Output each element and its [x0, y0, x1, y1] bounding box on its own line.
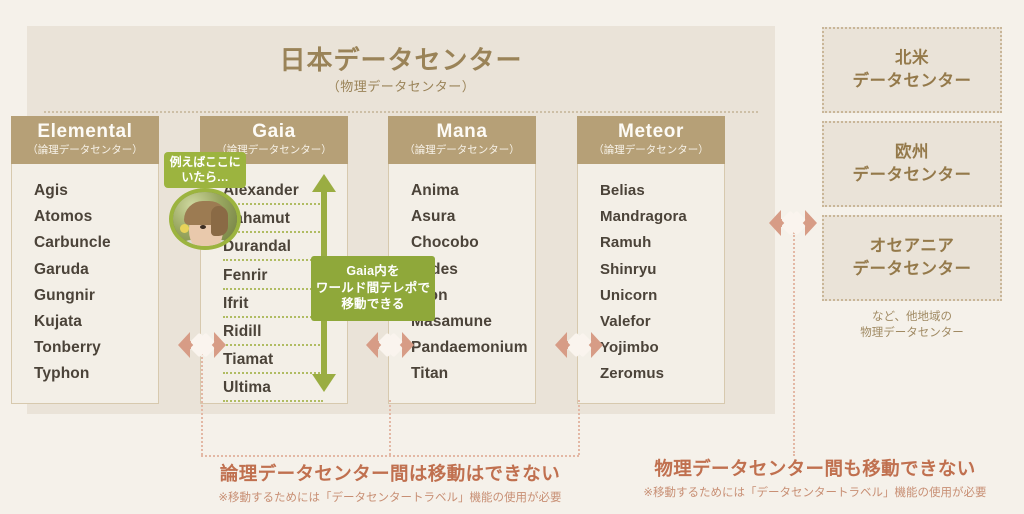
teleport-callout-line3: 移動できる — [315, 296, 431, 313]
world-list-elemental: Agis Atomos Carbuncle Garuda Gungnir Kuj… — [12, 178, 158, 388]
overseas-footnote-line2: 物理データセンター — [822, 325, 1002, 341]
title-divider — [44, 111, 758, 113]
list-item[interactable]: Garuda — [34, 257, 158, 283]
teleport-callout-line1: Gaia内を — [315, 263, 431, 280]
avatar — [169, 188, 241, 250]
list-item[interactable]: Titan — [411, 361, 535, 387]
page-title: 日本データセンター — [27, 40, 775, 77]
list-item[interactable]: Typhon — [34, 361, 158, 387]
caption-physical-datacenter: 物理データセンター間も移動できない ※移動するためには「データセンタートラベル」… — [620, 455, 1010, 500]
blocked-travel-icon-physical — [769, 210, 817, 236]
list-item[interactable]: Yojimbo — [600, 335, 724, 361]
flower-icon — [180, 224, 189, 233]
datacenter-body-meteor: Belias Mandragora Ramuh Shinryu Unicorn … — [577, 164, 725, 404]
list-item[interactable]: Chocobo — [411, 230, 535, 256]
list-item[interactable]: Pandaemonium — [411, 335, 535, 361]
datacenter-sublabel: （論理データセンター） — [577, 143, 725, 158]
caption-note: ※移動するためには「データセンタートラベル」機能の使用が必要 — [140, 489, 640, 505]
list-item[interactable]: Unicorn — [600, 283, 724, 309]
list-item[interactable]: Fenrir — [223, 263, 323, 290]
overseas-datacenter-oceania[interactable]: オセアニア データセンター — [822, 215, 1002, 301]
caption-main: 物理データセンター間も移動できない — [620, 455, 1010, 481]
list-item[interactable]: Carbuncle — [34, 230, 158, 256]
avatar-eye — [200, 225, 206, 229]
list-item[interactable]: Atomos — [34, 204, 158, 230]
avatar-callout-line2: いたら… — [166, 170, 244, 185]
connector-line — [578, 400, 580, 455]
datacenter-column-meteor[interactable]: Meteor （論理データセンター） Belias Mandragora Ram… — [577, 116, 725, 404]
list-item[interactable]: Ramuh — [600, 230, 724, 256]
caption-main: 論理データセンター間は移動はできない — [140, 460, 640, 486]
overseas-line1: オセアニア — [853, 235, 972, 258]
list-item[interactable]: Agis — [34, 178, 158, 204]
page-subtitle: （物理データセンター） — [27, 76, 775, 95]
cross-icon — [378, 333, 403, 358]
overseas-line1: 北米 — [853, 47, 972, 70]
arrow-right-tip — [805, 210, 817, 236]
overseas-footnote-line1: など、他地域の — [822, 309, 1002, 325]
teleport-callout: Gaia内を ワールド間テレポで 移動できる — [311, 256, 435, 321]
list-item[interactable]: Anima — [411, 178, 535, 204]
cross-icon — [781, 211, 806, 236]
datacenter-header-elemental: Elemental （論理データセンター） — [11, 116, 159, 164]
overseas-datacenter-north-america[interactable]: 北米 データセンター — [822, 27, 1002, 113]
datacenter-column-elemental[interactable]: Elemental （論理データセンター） Agis Atomos Carbun… — [11, 116, 159, 404]
list-item[interactable]: Valefor — [600, 309, 724, 335]
connector-line — [201, 345, 203, 455]
list-item[interactable]: Ifrit — [223, 291, 323, 318]
caption-note: ※移動するためには「データセンタートラベル」機能の使用が必要 — [620, 484, 1010, 500]
connector-line-horizontal — [201, 455, 579, 457]
avatar-callout-bubble: 例えばここに いたら… — [164, 152, 246, 188]
list-item[interactable]: Zeromus — [600, 361, 724, 387]
connector-line — [389, 400, 391, 455]
player-location-marker: 例えばここに いたら… — [158, 152, 250, 252]
diagram-canvas: 日本データセンター （物理データセンター） Elemental （論理データセン… — [0, 0, 1024, 514]
list-item[interactable]: Tonberry — [34, 335, 158, 361]
blocked-travel-icon — [555, 332, 603, 358]
overseas-line2: データセンター — [853, 70, 972, 93]
datacenter-sublabel: （論理データセンター） — [388, 143, 536, 158]
connector-line-physical — [793, 232, 795, 456]
datacenter-name: Mana — [388, 121, 536, 143]
overseas-datacenter-label: オセアニア データセンター — [853, 235, 972, 281]
list-item[interactable]: Tiamat — [223, 347, 323, 374]
list-item[interactable]: Gungnir — [34, 283, 158, 309]
datacenter-name: Gaia — [200, 121, 348, 143]
list-item[interactable]: Mandragora — [600, 204, 724, 230]
datacenter-body-elemental: Agis Atomos Carbuncle Garuda Gungnir Kuj… — [11, 164, 159, 404]
blocked-travel-icon — [366, 332, 414, 358]
cross-icon — [567, 333, 592, 358]
arrow-right-tip — [214, 332, 226, 358]
overseas-datacenter-column: 北米 データセンター 欧州 データセンター オセアニア データセンター など、他… — [822, 27, 1002, 341]
list-item[interactable]: Kujata — [34, 309, 158, 335]
overseas-footnote: など、他地域の 物理データセンター — [822, 309, 1002, 341]
arrow-right-tip — [402, 332, 414, 358]
datacenter-sublabel: （論理データセンター） — [11, 143, 159, 158]
arrow-right-tip — [591, 332, 603, 358]
blocked-travel-icon — [178, 332, 226, 358]
overseas-datacenter-europe[interactable]: 欧州 データセンター — [822, 121, 1002, 207]
overseas-line2: データセンター — [853, 164, 972, 187]
list-item[interactable]: Shinryu — [600, 257, 724, 283]
avatar-hair-side — [211, 206, 228, 236]
datacenter-header-mana: Mana （論理データセンター） — [388, 116, 536, 164]
overseas-line2: データセンター — [853, 258, 972, 281]
avatar-callout-line1: 例えばここに — [166, 155, 244, 170]
teleport-callout-line2: ワールド間テレポで — [315, 280, 431, 297]
overseas-datacenter-label: 北米 データセンター — [853, 47, 972, 93]
list-item[interactable]: Belias — [600, 178, 724, 204]
datacenter-name: Meteor — [577, 121, 725, 143]
datacenter-header-meteor: Meteor （論理データセンター） — [577, 116, 725, 164]
cross-icon — [190, 333, 215, 358]
list-item[interactable]: Ridill — [223, 319, 323, 346]
overseas-line1: 欧州 — [853, 141, 972, 164]
caption-logical-datacenter: 論理データセンター間は移動はできない ※移動するためには「データセンタートラベル… — [140, 460, 640, 505]
datacenter-name: Elemental — [11, 121, 159, 143]
overseas-datacenter-label: 欧州 データセンター — [853, 141, 972, 187]
arrow-down-tip — [312, 374, 336, 392]
list-item[interactable]: Ultima — [223, 375, 323, 402]
list-item[interactable]: Asura — [411, 204, 535, 230]
